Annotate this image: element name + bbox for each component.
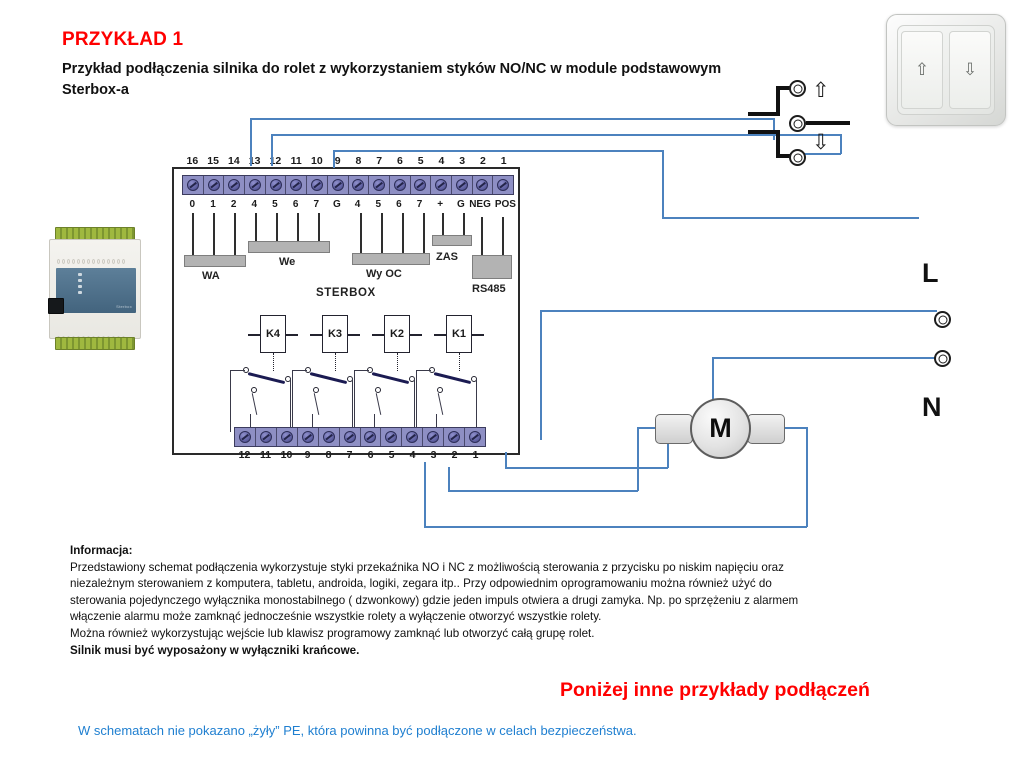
page-title: PRZYKŁAD 1 <box>62 29 183 51</box>
terminal-function: 7 <box>306 199 327 210</box>
top-terminal-function-row: 0 1 2 4 5 6 7 G 4 5 6 7 + G NEG POS <box>182 199 514 210</box>
bottom-terminal-12[interactable] <box>235 428 256 446</box>
screw-icon <box>476 179 488 191</box>
wire-l-horizontal <box>540 310 937 312</box>
screw-icon <box>228 179 240 191</box>
below-examples-note: Poniżej inne przykłady podłączeń <box>560 679 870 702</box>
top-terminal-number: 8 <box>348 155 369 167</box>
info-heading: Informacja: <box>70 543 960 560</box>
module-rj45-jack <box>48 298 64 314</box>
lead-line <box>255 213 257 241</box>
module-led <box>78 279 82 282</box>
bottom-terminal-number: 12 <box>234 449 255 461</box>
bottom-terminal-9[interactable] <box>298 428 319 446</box>
top-terminal-number: 13 <box>244 155 265 167</box>
wire-t13-horizontal <box>250 118 774 120</box>
terminal-2[interactable] <box>473 176 494 194</box>
group-label-zas: ZAS <box>436 251 458 263</box>
terminal-function: 1 <box>203 199 224 210</box>
relay-coil-label: K4 <box>260 315 286 353</box>
top-terminal-number: 12 <box>265 155 286 167</box>
bottom-terminal-number: 5 <box>381 449 402 461</box>
terminal-ring-up[interactable] <box>789 80 806 97</box>
bottom-terminal-number: 8 <box>318 449 339 461</box>
button-common-lead <box>806 121 850 125</box>
terminal-5[interactable] <box>411 176 432 194</box>
lead-line <box>463 213 465 235</box>
screw-icon <box>332 179 344 191</box>
group-box-rs485 <box>472 255 512 279</box>
bottom-terminal-number: 4 <box>402 449 423 461</box>
line-label-l: L <box>922 258 939 289</box>
wire-t1-vertical <box>505 452 507 468</box>
terminal-function: G <box>451 199 472 210</box>
arrow-up-icon: ⇧ <box>812 80 830 101</box>
terminal-ring-down[interactable] <box>789 149 806 166</box>
wire-t9-to-right <box>662 217 919 219</box>
top-terminal-number: 11 <box>286 155 307 167</box>
lead-line <box>297 213 299 241</box>
wire-motor-right-run <box>424 526 807 528</box>
module-vents-top <box>57 256 135 266</box>
wire-motor-left-up <box>448 467 450 491</box>
top-terminal-number: 2 <box>473 155 494 167</box>
module-led <box>78 285 82 288</box>
motor-shaft-left <box>655 414 693 444</box>
lead-line <box>192 213 194 255</box>
arrow-down-icon: ⇩ <box>812 132 830 153</box>
bottom-terminal-5[interactable] <box>381 428 402 446</box>
motor-shaft-right <box>747 414 785 444</box>
group-box-zas <box>432 235 472 246</box>
terminal-9[interactable] <box>328 176 349 194</box>
group-box-wy-oc <box>352 253 430 265</box>
terminal-10[interactable] <box>307 176 328 194</box>
bottom-terminal-number-row: 12 11 10 9 8 7 6 5 4 3 2 1 <box>234 449 486 461</box>
terminal-14[interactable] <box>224 176 245 194</box>
top-terminal-number: 10 <box>307 155 328 167</box>
terminal-function: NEG <box>469 199 491 210</box>
top-terminal-number-row: 16 15 14 13 12 11 10 9 8 7 6 5 4 3 2 1 <box>182 155 514 167</box>
top-terminal-number: 7 <box>369 155 390 167</box>
terminal-ring-n[interactable] <box>934 350 951 367</box>
terminal-7[interactable] <box>369 176 390 194</box>
screw-icon <box>270 179 282 191</box>
bottom-terminal-number: 10 <box>276 449 297 461</box>
info-line: sterowania pojedynczego wyłącznika monos… <box>70 593 960 610</box>
screw-icon <box>208 179 220 191</box>
slide-canvas: PRZYKŁAD 1 Przykład podłączenia silnika … <box>0 0 1024 768</box>
relay-coil-label: K1 <box>446 315 472 353</box>
wire-t13-vertical <box>250 118 252 166</box>
top-terminal-number: 5 <box>410 155 431 167</box>
lead-line <box>213 213 215 255</box>
lead-line <box>234 213 236 255</box>
screw-icon <box>373 179 385 191</box>
terminal-3[interactable] <box>452 176 473 194</box>
bottom-terminal-strip <box>234 427 486 447</box>
wire-t9-drop <box>662 150 664 218</box>
group-label-we: We <box>279 256 295 268</box>
terminal-6[interactable] <box>390 176 411 194</box>
wall-rocker-switch[interactable]: ⇧ ⇩ <box>886 14 1006 126</box>
bottom-terminal-number: 3 <box>423 449 444 461</box>
terminal-function: G <box>327 199 348 210</box>
lead-line <box>276 213 278 241</box>
lead-line <box>502 217 504 255</box>
screw-icon <box>187 179 199 191</box>
screw-icon <box>281 431 293 443</box>
sterbox-module-photo: Sterbox <box>45 225 145 353</box>
terminal-function: 5 <box>265 199 286 210</box>
screw-icon <box>448 431 460 443</box>
lead-line <box>481 217 483 255</box>
info-section: Informacja: Przedstawiony schemat podłąc… <box>70 543 960 659</box>
roller-pushbutton-terminals: ⇧ ⇩ <box>748 78 898 176</box>
page-subtitle: Przykład podłączenia silnika do rolet z … <box>62 59 722 101</box>
screw-icon <box>344 431 356 443</box>
info-line: niezależnym sterowaniem z komputera, tab… <box>70 576 960 593</box>
terminal-ring-l[interactable] <box>934 311 951 328</box>
wire-n-horizontal <box>712 357 937 359</box>
sterbox-schematic: 16 15 14 13 12 11 10 9 8 7 6 5 4 3 2 1 <box>172 167 520 455</box>
bottom-terminal-3[interactable] <box>423 428 444 446</box>
top-terminal-number: 3 <box>452 155 473 167</box>
top-terminal-number: 6 <box>390 155 411 167</box>
bottom-terminal-7[interactable] <box>340 428 361 446</box>
bottom-terminal-1[interactable] <box>465 428 485 446</box>
terminal-8[interactable] <box>349 176 370 194</box>
terminal-function: 7 <box>409 199 430 210</box>
button-lead-top-riser <box>776 86 780 114</box>
terminal-function: 6 <box>389 199 410 210</box>
screw-icon <box>249 179 261 191</box>
bottom-terminal-number: 1 <box>465 449 486 461</box>
screw-icon <box>456 179 468 191</box>
screw-icon <box>352 179 364 191</box>
wire-t1-horizontal <box>505 467 668 469</box>
group-label-wa: WA <box>202 270 220 282</box>
info-bold-line: Silnik musi być wyposażony w wyłączniki … <box>70 643 960 660</box>
screw-icon <box>406 431 418 443</box>
wire-t12-vertical <box>271 134 273 166</box>
bottom-terminal-6[interactable] <box>361 428 382 446</box>
screw-icon <box>394 179 406 191</box>
group-box-wa <box>184 255 246 267</box>
wire-motor-left-run <box>448 490 638 492</box>
lead-line <box>360 213 362 253</box>
rocker-up-button[interactable]: ⇧ <box>901 31 943 109</box>
pe-safety-note: W schematach nie pokazano „żyły” PE, któ… <box>78 723 637 738</box>
wire-t9-horizontal <box>333 150 663 152</box>
top-terminal-strip <box>182 175 514 195</box>
terminal-11[interactable] <box>286 176 307 194</box>
device-name-label: STERBOX <box>316 287 376 299</box>
terminal-function: 5 <box>368 199 389 210</box>
screw-icon <box>497 179 509 191</box>
terminal-function: POS <box>495 199 516 210</box>
terminal-15[interactable] <box>204 176 225 194</box>
roller-shutter-motor: M <box>655 398 785 460</box>
group-box-we <box>248 241 330 253</box>
screw-icon <box>427 431 439 443</box>
top-terminal-number: 4 <box>431 155 452 167</box>
terminal-function: 0 <box>182 199 203 210</box>
bottom-terminal-number: 9 <box>297 449 318 461</box>
terminal-function: 4 <box>244 199 265 210</box>
terminal-13[interactable] <box>245 176 266 194</box>
relay-coil-label: K2 <box>384 315 410 353</box>
terminal-ring-common[interactable] <box>789 115 806 132</box>
screw-icon <box>364 431 376 443</box>
bottom-terminal-number: 6 <box>360 449 381 461</box>
terminal-function: 4 <box>347 199 368 210</box>
info-line: Przedstawiony schemat podłączenia wykorz… <box>70 560 960 577</box>
screw-icon <box>239 431 251 443</box>
relay-coil-label: K3 <box>322 315 348 353</box>
bottom-terminal-11[interactable] <box>256 428 277 446</box>
screw-icon <box>385 431 397 443</box>
info-line: włączenie alarmu może zamknąć jednocześn… <box>70 609 960 626</box>
bottom-terminal-8[interactable] <box>319 428 340 446</box>
top-terminal-number: 16 <box>182 155 203 167</box>
bottom-terminal-2[interactable] <box>444 428 465 446</box>
lead-line <box>423 213 425 253</box>
module-led-group <box>78 273 82 297</box>
screw-icon <box>435 179 447 191</box>
screw-icon <box>323 431 335 443</box>
bottom-terminal-number: 11 <box>255 449 276 461</box>
module-brand-mark: Sterbox <box>116 304 132 309</box>
info-line: Można również wykorzystując wejście lub … <box>70 626 960 643</box>
wire-motor-right-drop <box>806 427 808 527</box>
module-led <box>78 291 82 294</box>
terminal-function: 6 <box>285 199 306 210</box>
terminal-1[interactable] <box>493 176 513 194</box>
wall-switch-frame: ⇧ ⇩ <box>897 25 995 115</box>
screw-icon <box>469 431 481 443</box>
top-terminal-number: 1 <box>493 155 514 167</box>
bottom-terminal-number: 7 <box>339 449 360 461</box>
terminal-4[interactable] <box>431 176 452 194</box>
bottom-terminal-number: 2 <box>444 449 465 461</box>
group-label-wy-oc: Wy OC <box>366 268 402 280</box>
lead-line <box>318 213 320 241</box>
wire-motor-right-up <box>424 462 426 527</box>
module-bottom-terminal-block <box>55 337 135 350</box>
module-faceplate: Sterbox <box>56 268 136 313</box>
terminal-12[interactable] <box>266 176 287 194</box>
screw-icon <box>290 179 302 191</box>
wire-t9-vertical <box>333 150 335 168</box>
terminal-16[interactable] <box>183 176 204 194</box>
terminal-function: + <box>430 199 451 210</box>
screw-icon <box>302 431 314 443</box>
top-terminal-number: 14 <box>224 155 245 167</box>
screw-icon <box>260 431 272 443</box>
lead-line <box>402 213 404 253</box>
terminal-function: 2 <box>223 199 244 210</box>
screw-icon <box>414 179 426 191</box>
wire-motor-left-drop <box>637 427 639 491</box>
bottom-terminal-10[interactable] <box>277 428 298 446</box>
screw-icon <box>311 179 323 191</box>
bottom-terminal-4[interactable] <box>402 428 423 446</box>
module-body: Sterbox <box>49 239 141 339</box>
lead-line <box>381 213 383 253</box>
line-label-n: N <box>922 392 942 423</box>
wire-l-vertical <box>540 310 542 440</box>
top-terminal-number: 15 <box>203 155 224 167</box>
motor-symbol: M <box>690 398 751 459</box>
module-led <box>78 273 82 276</box>
rocker-down-button[interactable]: ⇩ <box>949 31 991 109</box>
lead-line <box>442 213 444 235</box>
top-terminal-number: 9 <box>327 155 348 167</box>
group-label-rs485: RS485 <box>472 283 506 295</box>
